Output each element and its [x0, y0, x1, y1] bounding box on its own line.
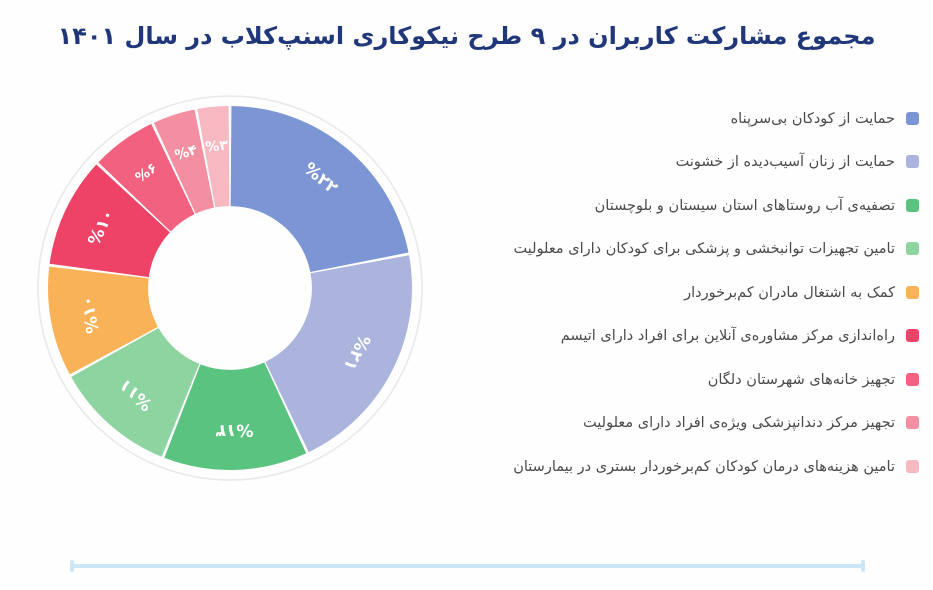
legend-item-label: تجهیز مرکز دندانپزشکی ویژه‌ی افراد دارای… [449, 412, 895, 434]
legend-item-label: حمایت از کودکان بی‌سرپناه [449, 108, 895, 130]
legend-item[interactable]: تصفیه‌ی آب روستاهای استان سیستان و بلوچس… [449, 195, 919, 217]
legend-swatch-icon [906, 112, 919, 125]
legend-item[interactable]: حمایت از زنان آسیب‌دیده از خشونت [449, 151, 919, 173]
legend-item[interactable]: حمایت از کودکان بی‌سرپناه [449, 108, 919, 130]
legend-item[interactable]: تجهیز خانه‌های شهرستان دلگان [449, 369, 919, 391]
legend-swatch-icon [906, 373, 919, 386]
donut-chart: %۲۲%۲۱%۱۳%۱۱%۱۰%۱۰%۶%۴%۳ [30, 88, 430, 488]
chart-page: مجموع مشارکت کاربران در ۹ طرح نیکوکاری ا… [0, 0, 933, 590]
legend-item-label: کمک به اشتغال مادران کم‌برخوردار [449, 282, 895, 304]
legend-item-label: تجهیز خانه‌های شهرستان دلگان [449, 369, 895, 391]
chart-title-bar: مجموع مشارکت کاربران در ۹ طرح نیکوکاری ا… [0, 0, 933, 78]
legend-item[interactable]: راه‌اندازی مرکز مشاوره‌ی آنلاین برای افر… [449, 325, 919, 347]
bottom-divider [70, 564, 865, 568]
legend-item-label: حمایت از زنان آسیب‌دیده از خشونت [449, 151, 895, 173]
slice-value-label: %۳ [205, 138, 229, 156]
legend-item-label: تامین تجهیزات توانبخشی و پزشکی برای کودک… [449, 238, 895, 260]
legend-swatch-icon [906, 416, 919, 429]
legend-swatch-icon [906, 460, 919, 473]
legend-item[interactable]: تجهیز مرکز دندانپزشکی ویژه‌ی افراد دارای… [449, 412, 919, 434]
legend-item[interactable]: تامین تجهیزات توانبخشی و پزشکی برای کودک… [449, 238, 919, 260]
legend-swatch-icon [906, 242, 919, 255]
legend-item[interactable]: تامین هزینه‌های درمان کودکان کم‌برخوردار… [449, 456, 919, 478]
chart-legend: حمایت از کودکان بی‌سرپناهحمایت از زنان آ… [449, 108, 919, 499]
page-title: مجموع مشارکت کاربران در ۹ طرح نیکوکاری ا… [58, 20, 876, 58]
donut-slices[interactable] [48, 106, 412, 470]
slice-value-label: %۱۳ [215, 419, 254, 440]
legend-item-label: راه‌اندازی مرکز مشاوره‌ی آنلاین برای افر… [449, 325, 895, 347]
legend-item-label: تامین هزینه‌های درمان کودکان کم‌برخوردار… [449, 456, 895, 478]
legend-item-label: تصفیه‌ی آب روستاهای استان سیستان و بلوچس… [449, 195, 895, 217]
legend-swatch-icon [906, 329, 919, 342]
legend-swatch-icon [906, 199, 919, 212]
legend-swatch-icon [906, 286, 919, 299]
legend-swatch-icon [906, 155, 919, 168]
legend-item[interactable]: کمک به اشتغال مادران کم‌برخوردار [449, 282, 919, 304]
donut-chart-area: %۲۲%۲۱%۱۳%۱۱%۱۰%۱۰%۶%۴%۳ [12, 78, 442, 548]
donut-svg: %۲۲%۲۱%۱۳%۱۱%۱۰%۱۰%۶%۴%۳ [30, 88, 430, 488]
